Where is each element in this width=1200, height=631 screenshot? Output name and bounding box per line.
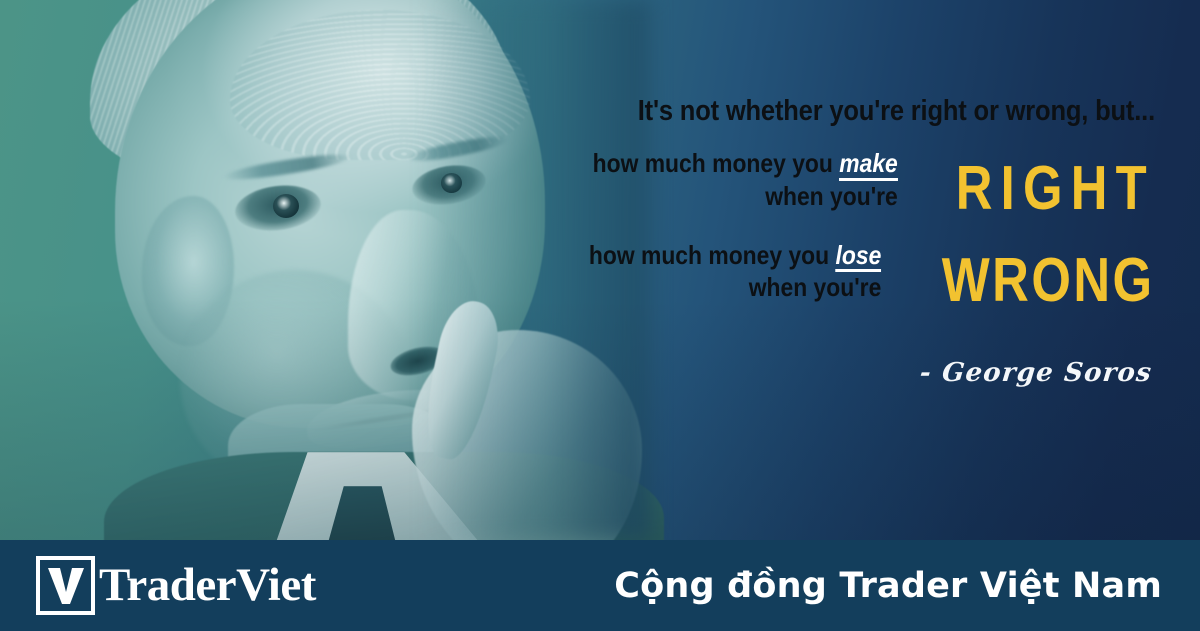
quote-wrong-phrase: how much money you lose when you're xyxy=(589,240,881,307)
quote-emphasis-lose: lose xyxy=(836,242,882,273)
portrait-pupil-left xyxy=(273,194,299,218)
brand-lockup[interactable]: TraderViet xyxy=(36,556,316,615)
poster-canvas: It's not whether you're right or wrong, … xyxy=(0,0,1200,631)
quote-right-phrase: how much money you make when you're xyxy=(593,148,898,215)
footer-tagline: Cộng đồng Trader Việt Nam xyxy=(614,566,1162,606)
quote-attribution: - George Soros xyxy=(918,358,1153,388)
quote-row-right: how much money you make when you're RIGH… xyxy=(535,148,1155,215)
traderviet-logo-icon[interactable] xyxy=(36,556,95,615)
quote-bigword-wrong: WRONG xyxy=(942,254,1155,307)
quote-bigword-right: RIGHT xyxy=(956,162,1155,215)
brand-name-label: TraderViet xyxy=(99,562,316,609)
quote-line-one: It's not whether you're right or wrong, … xyxy=(609,96,1155,126)
artwork-background: It's not whether you're right or wrong, … xyxy=(0,0,1200,540)
quote-right-lead: how much money you xyxy=(593,148,833,178)
quote-block: It's not whether you're right or wrong, … xyxy=(535,96,1155,307)
quote-emphasis-make: make xyxy=(840,150,899,181)
footer-bar: TraderViet Cộng đồng Trader Việt Nam xyxy=(0,540,1200,631)
quote-row-wrong: how much money you lose when you're WRON… xyxy=(535,240,1155,307)
quote-right-sub: when you're xyxy=(766,181,899,211)
portrait-pupil-right xyxy=(441,173,462,193)
quote-wrong-lead: how much money you xyxy=(589,240,829,270)
quote-wrong-sub: when you're xyxy=(749,272,882,302)
